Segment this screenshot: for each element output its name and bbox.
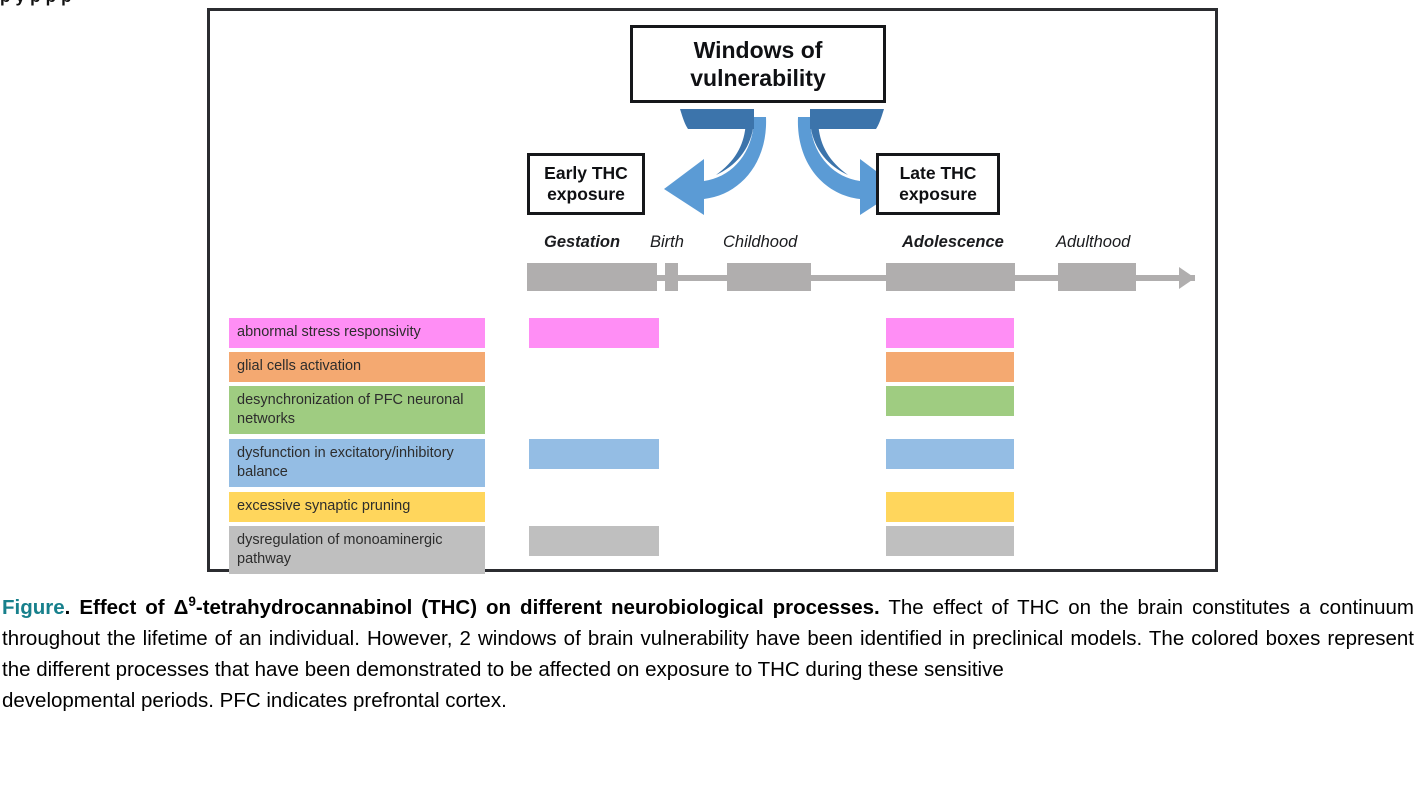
process-label: dysfunction in excitatory/inhibitory bal… (229, 439, 485, 487)
late-exposure-bar (886, 352, 1014, 382)
late-thc-exposure-box: Late THC exposure (876, 153, 1000, 215)
caption-bold-pre: . Effect of Δ (65, 596, 189, 619)
timeline-segment-gestation (527, 263, 657, 291)
figure-inner: Windows of vulnerability Early THC expos… (210, 11, 1215, 569)
late-exposure-bar (886, 318, 1014, 348)
process-label: abnormal stress responsivity (229, 318, 485, 348)
early-thc-exposure-box: Early THC exposure (527, 153, 645, 215)
caption-figure-word: Figure (2, 596, 65, 619)
timeline-arrowhead-icon (1179, 267, 1195, 289)
process-row: dysregulation of monoaminergic pathway (210, 526, 1215, 574)
early-exposure-bar (529, 318, 659, 348)
timeline-segment-adulthood (1058, 263, 1136, 291)
process-label: dysregulation of monoaminergic pathway (229, 526, 485, 574)
late-exposure-bar (886, 386, 1014, 416)
process-row: dysfunction in excitatory/inhibitory bal… (210, 439, 1215, 487)
curved-arrow-left-icon (658, 107, 768, 215)
timeline-label-childhood: Childhood (723, 233, 797, 252)
process-label: excessive synaptic pruning (229, 492, 485, 522)
clipped-text: p y p p p (0, 0, 72, 7)
timeline-label-birth: Birth (650, 233, 684, 252)
process-row: glial cells activation (210, 352, 1215, 382)
process-row: abnormal stress responsivity (210, 318, 1215, 348)
timeline-segment-childhood (727, 263, 811, 291)
caption-superscript-9: 9 (188, 594, 196, 609)
late-exposure-bar (886, 526, 1014, 556)
early-exposure-bar (529, 526, 659, 556)
figure-panel: Windows of vulnerability Early THC expos… (207, 8, 1218, 572)
caption-last-line: developmental periods. PFC indicates pre… (2, 685, 1414, 716)
timeline-label-adulthood: Adulthood (1056, 233, 1130, 252)
timeline-segment-adolescence (886, 263, 1015, 291)
timeline-label-adolescence: Adolescence (902, 233, 1004, 252)
caption-bold-post: -tetrahydrocannabinol (THC) on different… (196, 596, 880, 619)
late-thc-exposure-label: Late THC exposure (899, 163, 977, 206)
developmental-timeline: GestationBirthChildhoodAdolescenceAdulth… (210, 233, 1215, 303)
process-row: desynchronization of PFC neuronal networ… (210, 386, 1215, 434)
late-exposure-bar (886, 492, 1014, 522)
process-label: glial cells activation (229, 352, 485, 382)
process-row: excessive synaptic pruning (210, 492, 1215, 522)
process-label: desynchronization of PFC neuronal networ… (229, 386, 485, 434)
windows-of-vulnerability-label: Windows of vulnerability (690, 36, 825, 92)
timeline-segment-birth (665, 263, 678, 291)
late-exposure-bar (886, 439, 1014, 469)
early-thc-exposure-label: Early THC exposure (544, 163, 628, 206)
figure-caption: Figure. Effect of Δ9-tetrahydrocannabino… (2, 592, 1414, 717)
early-exposure-bar (529, 439, 659, 469)
timeline-label-gestation: Gestation (544, 233, 620, 252)
windows-of-vulnerability-box: Windows of vulnerability (630, 25, 886, 103)
